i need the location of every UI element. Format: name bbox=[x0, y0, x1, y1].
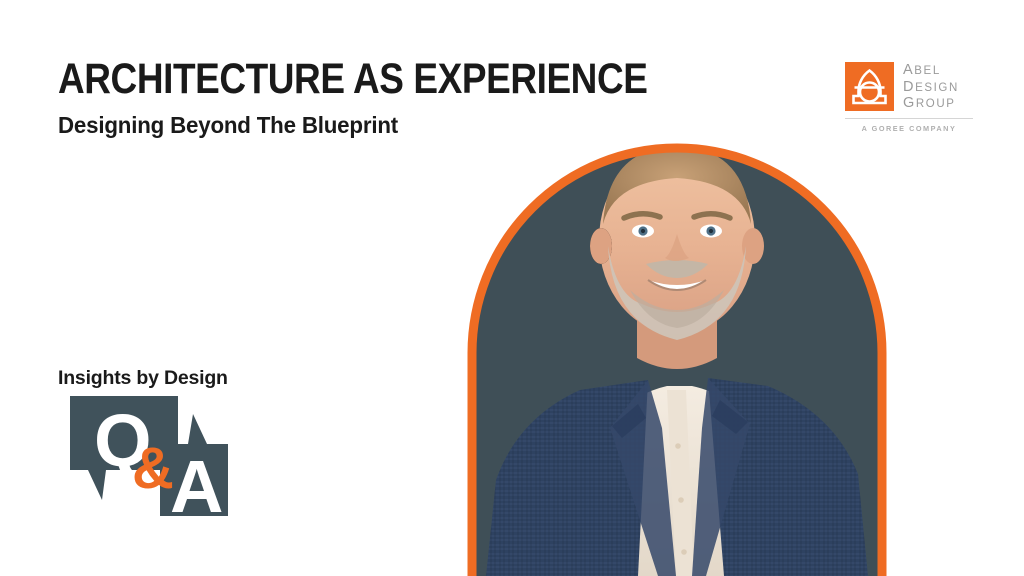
logo-line-design: DESIGN bbox=[903, 80, 959, 97]
series-label: Insights by Design bbox=[58, 367, 228, 390]
logo-wordmark: ABEL DESIGN GROUP bbox=[903, 62, 959, 113]
a-letter: A bbox=[170, 445, 223, 517]
qa-graphic: Q A & bbox=[60, 392, 240, 517]
brand-logo: ABEL DESIGN GROUP A GOREE COMPANY bbox=[845, 62, 973, 133]
portrait-arch bbox=[462, 128, 892, 576]
logo-line-group: GROUP bbox=[903, 96, 959, 113]
logo-row: ABEL DESIGN GROUP bbox=[845, 62, 973, 113]
page-title: ARCHITECTURE AS EXPERIENCE bbox=[58, 58, 505, 101]
logo-line-abel: ABEL bbox=[903, 63, 959, 80]
title-block: ARCHITECTURE AS EXPERIENCE Designing Bey… bbox=[58, 58, 578, 138]
ampersand: & bbox=[132, 436, 174, 501]
logo-divider bbox=[845, 118, 973, 119]
presentation-slide: ARCHITECTURE AS EXPERIENCE Designing Bey… bbox=[0, 0, 1024, 576]
abel-monogram-icon bbox=[845, 62, 894, 111]
